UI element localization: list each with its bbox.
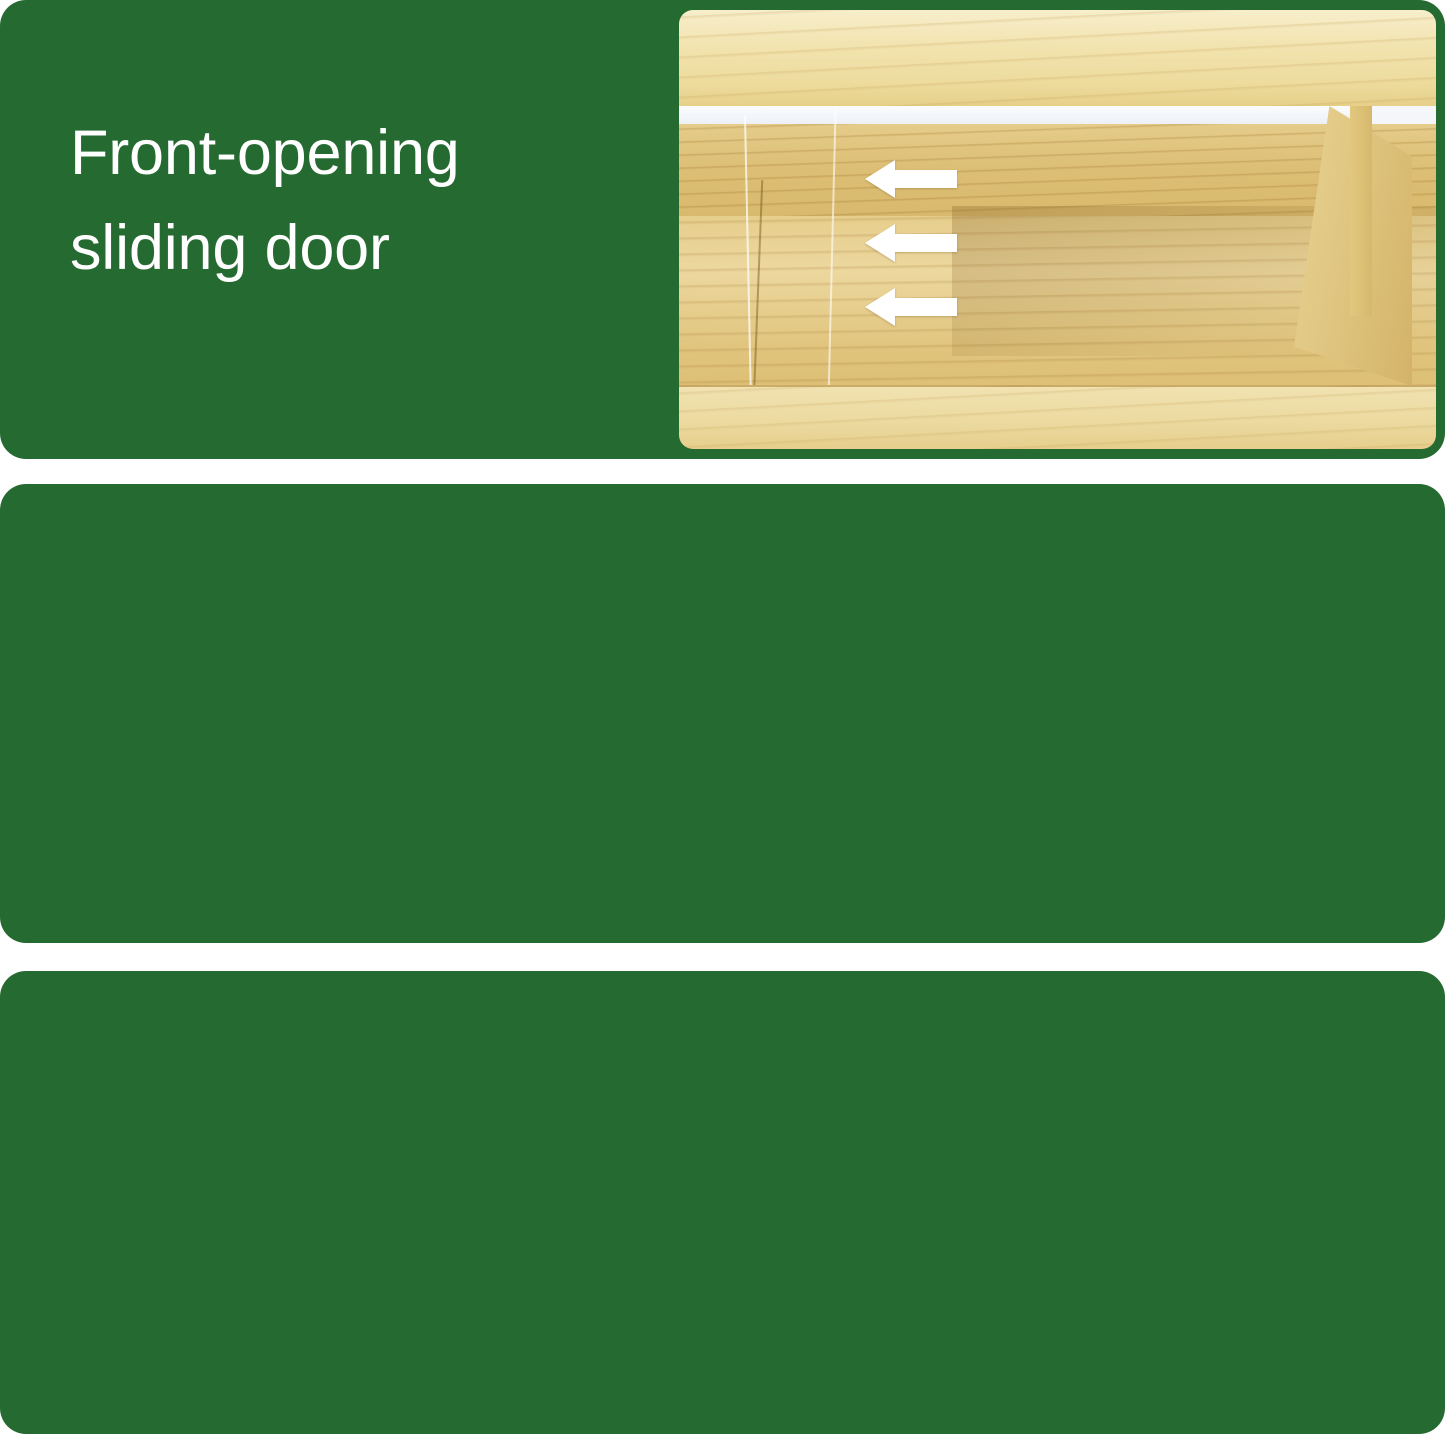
wood-front-rail — [679, 385, 1436, 449]
arrow-left-icon — [865, 288, 957, 326]
feature-infographic: Front-opening sliding door — [0, 0, 1445, 1434]
wood-top-rail — [679, 10, 1436, 106]
feature-panel-thickened-material-stable-structure: Thickened material, stable structure — [0, 971, 1445, 1434]
wood-right-post — [1350, 106, 1372, 316]
panel-1-caption: Front-opening sliding door — [70, 106, 670, 295]
feature-panel-removable-clear-bottom-panel: Removable clear bottom panel, moisture-p… — [0, 484, 1445, 943]
wooden-drawer-interior-image — [679, 10, 1436, 449]
arrow-left-icon — [865, 224, 957, 262]
feature-panel-front-opening-sliding-door: Front-opening sliding door — [0, 0, 1445, 459]
arrow-left-icon — [865, 160, 957, 198]
